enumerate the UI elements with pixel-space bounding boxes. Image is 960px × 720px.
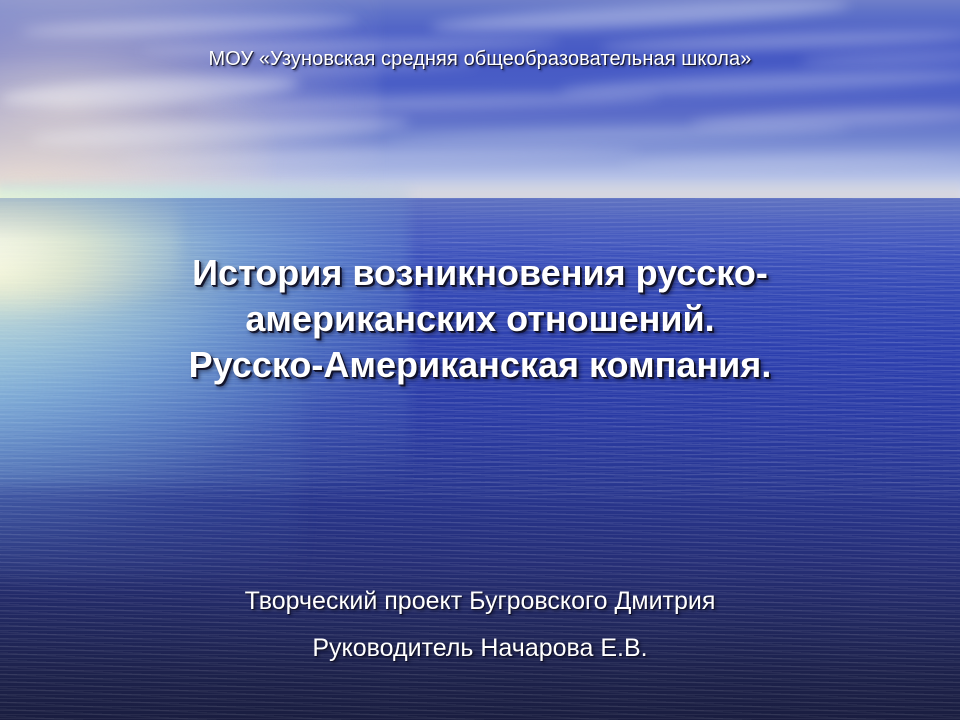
title-line-2: американских отношений. [60,296,900,342]
title-line-1: История возникновения русско- [60,250,900,296]
title-line-3: Русско-Американская компания. [60,342,900,388]
school-name-header: МОУ «Узуновская средняя общеобразователь… [0,48,960,71]
slide-title: История возникновения русско- американск… [60,250,900,388]
credits-author: Творческий проект Бугровского Дмитрия [60,578,900,625]
slide-credits: Творческий проект Бугровского Дмитрия Ру… [60,578,900,672]
credits-supervisor: Руководитель Начарова Е.В. [60,625,900,672]
title-slide: МОУ «Узуновская средняя общеобразователь… [0,0,960,720]
slide-text-layer: МОУ «Узуновская средняя общеобразователь… [0,0,960,720]
